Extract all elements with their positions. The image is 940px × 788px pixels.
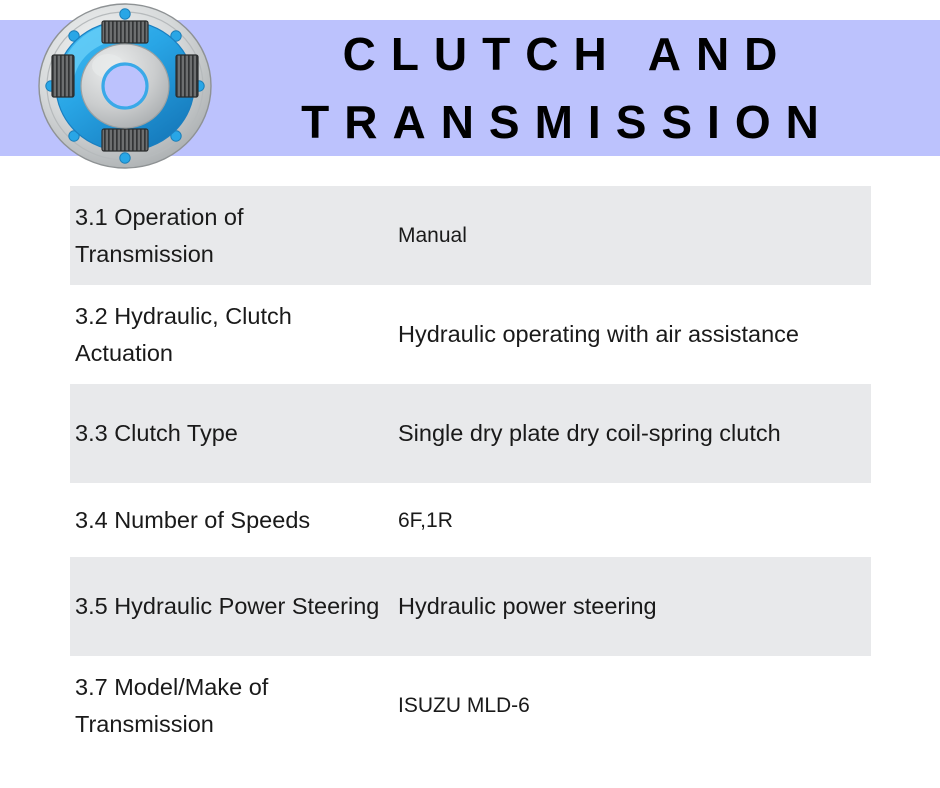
spec-value: Hydraulic operating with air assistance bbox=[398, 316, 871, 353]
specification-table: 3.1 Operation of Transmission Manual 3.2… bbox=[70, 186, 871, 755]
spec-value: Manual bbox=[398, 217, 871, 254]
spec-value: Hydraulic power steering bbox=[398, 588, 871, 625]
table-row: 3.1 Operation of Transmission Manual bbox=[70, 186, 871, 285]
table-row: 3.2 Hydraulic, Clutch Actuation Hydrauli… bbox=[70, 285, 871, 384]
spec-label: 3.5 Hydraulic Power Steering bbox=[75, 588, 398, 625]
table-row: 3.7 Model/Make of Transmission ISUZU MLD… bbox=[70, 656, 871, 755]
page-title-line-1: CLUTCH AND bbox=[328, 20, 793, 88]
spec-label: 3.1 Operation of Transmission bbox=[75, 199, 398, 273]
table-row: 3.4 Number of Speeds 6F,1R bbox=[70, 483, 871, 557]
spec-label: 3.7 Model/Make of Transmission bbox=[75, 669, 398, 743]
clutch-disc-icon bbox=[36, 2, 214, 170]
page-title-line-2: TRANSMISSION bbox=[286, 88, 834, 156]
spec-value: 6F,1R bbox=[398, 502, 871, 539]
spec-label: 3.2 Hydraulic, Clutch Actuation bbox=[75, 298, 398, 372]
spec-value: ISUZU MLD-6 bbox=[398, 687, 871, 724]
spec-label: 3.4 Number of Speeds bbox=[75, 502, 398, 539]
table-row: 3.3 Clutch Type Single dry plate dry coi… bbox=[70, 384, 871, 483]
spec-label: 3.3 Clutch Type bbox=[75, 415, 398, 452]
spec-value: Single dry plate dry coil-spring clutch bbox=[398, 415, 871, 452]
table-row: 3.5 Hydraulic Power Steering Hydraulic p… bbox=[70, 557, 871, 656]
page-title: CLUTCH AND TRANSMISSION bbox=[180, 20, 940, 156]
